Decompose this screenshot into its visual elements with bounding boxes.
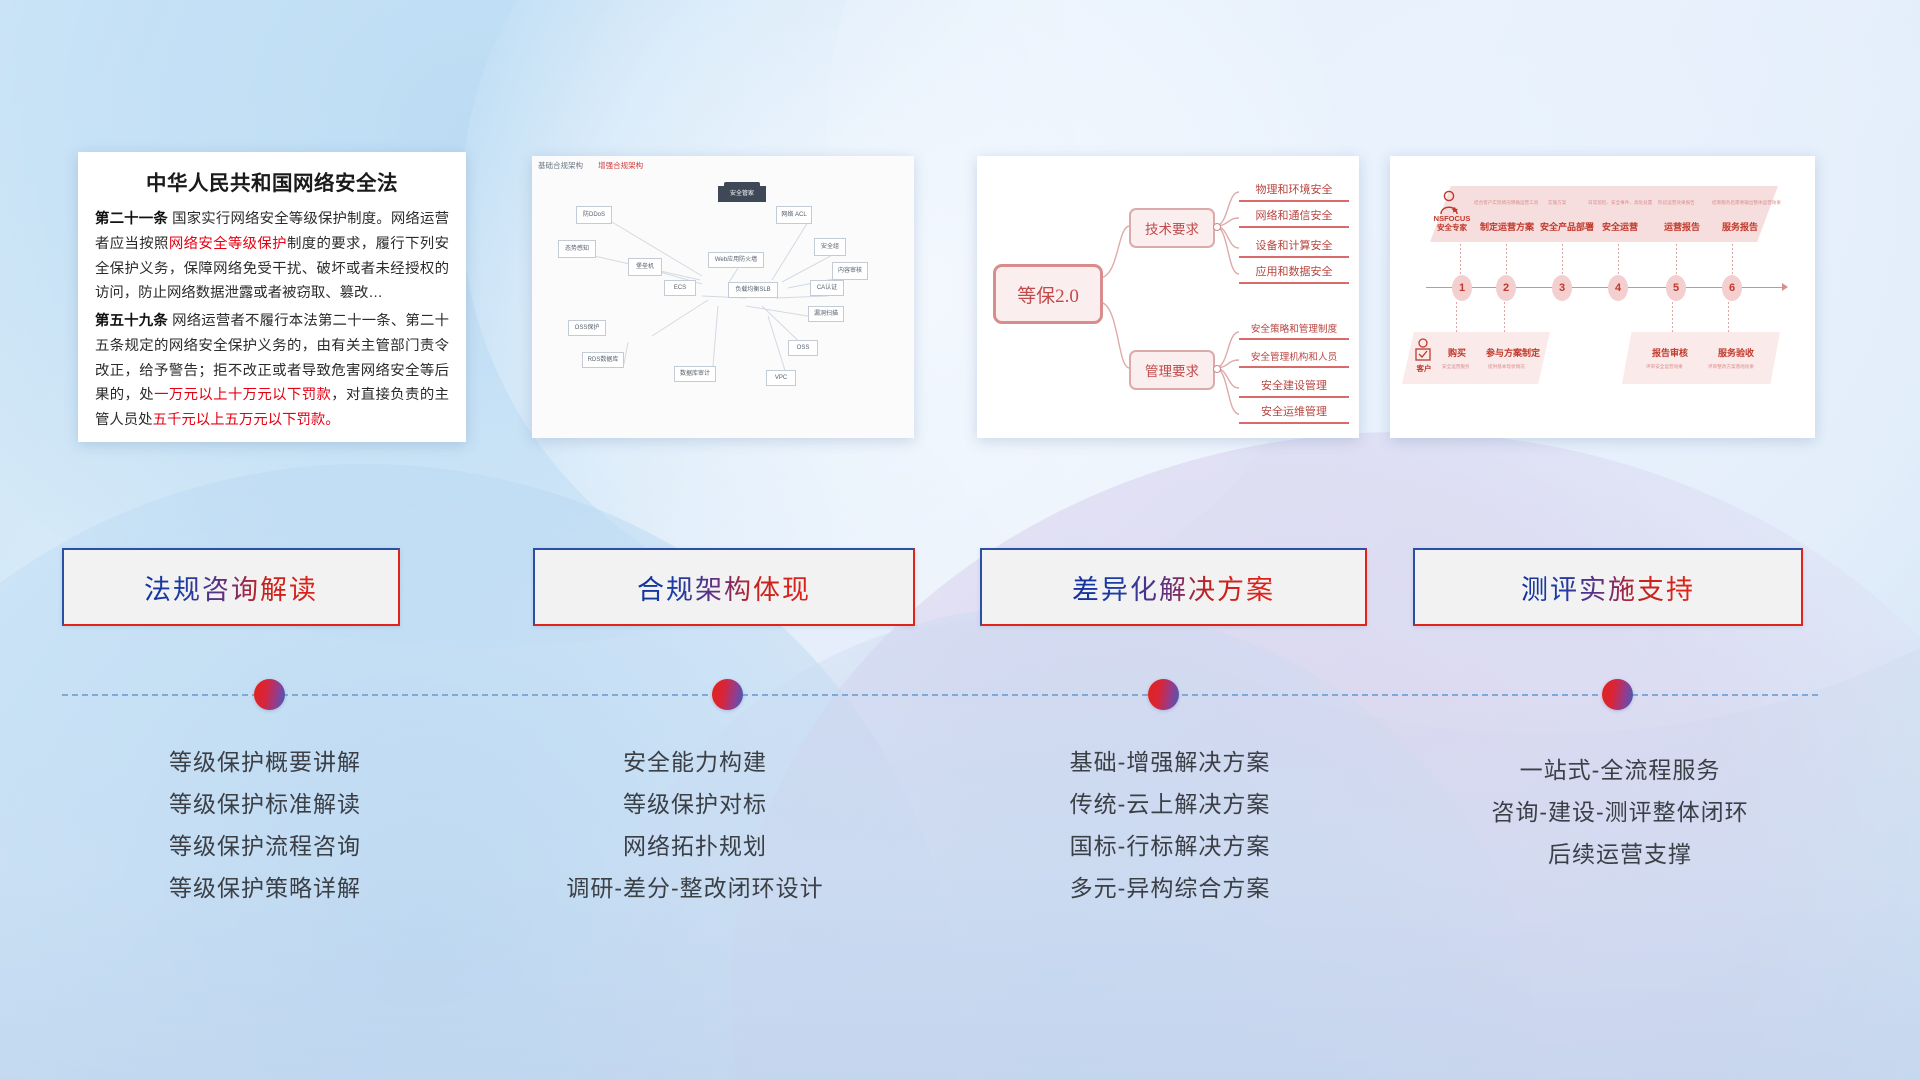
bottom-subtitle-3: 评审安全运营效果 [1646,364,1683,370]
timeline-marker-3[interactable] [1602,679,1633,710]
bottom-list-3-item-1: 咨询-建设-测评整体闭环 [1400,792,1840,834]
bottom-list-3: 一站式-全流程服务 咨询-建设-测评整体闭环 后续运营支撑 [1400,750,1840,876]
mindmap-collapse-dot-management[interactable] [1213,365,1221,373]
timeline-subtitle-5: 阶段运营效果报告 [1658,200,1695,206]
bottom-title-3: 报告审核 [1652,346,1688,359]
bottom-list-2-item-1: 传统-云上解决方案 [950,784,1390,826]
expert-logo-line1: NSFOCUS [1434,214,1471,223]
timeline-subtitle-3: 实施方案 [1548,200,1566,206]
bottom-list-0-item-2: 等级保护流程咨询 [60,826,470,868]
timeline-tick-4 [1618,244,1619,274]
mindmap-collapse-dot-technical[interactable] [1213,223,1221,231]
label-box-2-text: 差异化解决方案 [1072,568,1275,607]
bottom-list-0: 等级保护概要讲解 等级保护标准解读 等级保护流程咨询 等级保护策略详解 [60,742,470,909]
card-service-timeline: NSFOCUS 安全专家 结合客户实际情况明确运营工具 制定运营方案 实施方案 … [1390,156,1815,438]
architecture-node-14: 数据库审计 [674,366,716,382]
law-run-1-1-highlight: 网络安全等级保护 [169,236,287,252]
timeline-node-3[interactable]: 3 [1552,275,1572,301]
timeline-tick-b5 [1672,302,1673,332]
bottom-list-1-item-2: 网络拓扑规划 [480,826,910,868]
timeline-dashed-line [62,694,1818,696]
timeline-tick-2 [1506,244,1507,274]
customer-person-icon [1412,338,1434,364]
architecture-node-5: 安全组 [814,238,846,256]
timeline-marker-1[interactable] [712,679,743,710]
bottom-subtitle-2: 提供基本现状情况 [1488,364,1525,370]
bottom-list-2: 基础-增强解决方案 传统-云上解决方案 国标-行标解决方案 多元-异构综合方案 [950,742,1390,909]
architecture-node-7: ECS [664,280,696,296]
timeline-tick-b2 [1504,302,1505,332]
label-box-1-text: 合规架构体现 [637,568,811,607]
timeline-node-5[interactable]: 5 [1666,275,1686,301]
label-box-3[interactable]: 测评实施支持 [1413,548,1803,626]
architecture-node-12: RDS数据库 [582,352,624,368]
mindmap-leaf-tech-0: 物理和环境安全 [1239,181,1349,202]
timeline-subtitle-2: 结合客户实际情况明确运营工具 [1474,200,1538,206]
timeline-title-6: 服务报告 [1722,220,1758,233]
mindmap-root-node: 等保2.0 [993,264,1103,324]
timeline-marker-0[interactable] [254,679,285,710]
mindmap-canvas: 等保2.0 技术要求 物理和环境安全 网络和通信安全 设备和计算安全 应用和数据… [977,156,1359,438]
label-box-3-text: 测评实施支持 [1521,568,1695,607]
expert-logo: NSFOCUS 安全专家 [1432,214,1472,233]
timeline-subtitle-6: 结束服务后需要输出整体运营效果 [1712,200,1781,206]
bottom-list-1-item-0: 安全能力构建 [480,742,910,784]
bottom-title-4: 服务验收 [1718,346,1754,359]
bottom-list-1-item-3: 调研-差分-整改闭环设计 [480,868,910,910]
bottom-list-1: 安全能力构建 等级保护对标 网络拓扑规划 调研-差分-整改闭环设计 [480,742,910,909]
mindmap-leaf-mgmt-3: 安全运维管理 [1239,403,1349,424]
timeline-title-4: 安全运营 [1602,220,1638,233]
mindmap-leaf-tech-3: 应用和数据安全 [1239,263,1349,284]
architecture-node-10: 漏洞扫描 [808,306,844,322]
timeline-tick-6 [1732,244,1733,274]
architecture-node-2: 堡垒机 [628,258,662,276]
architecture-node-15: VPC [766,370,796,386]
architecture-node-9: CA认证 [810,280,844,296]
architecture-node-4: 网络 ACL [776,206,812,224]
bottom-list-0-item-1: 等级保护标准解读 [60,784,470,826]
timeline-node-6[interactable]: 6 [1722,275,1742,301]
mindmap-leaf-mgmt-1: 安全管理机构和人员 [1239,349,1349,368]
bottom-list-0-item-3: 等级保护策略详解 [60,868,470,910]
timeline-node-2[interactable]: 2 [1496,275,1516,301]
timeline-tick-5 [1676,244,1677,274]
law-run-2-3-highlight: 五千元以上五万元以下罚款。 [153,412,340,428]
expert-person-icon [1436,190,1464,216]
bottom-list-2-item-2: 国标-行标解决方案 [950,826,1390,868]
architecture-node-11: OSS保护 [568,320,606,336]
architecture-node-3: Web应用防火墙 [708,252,764,268]
bottom-list-1-item-1: 等级保护对标 [480,784,910,826]
architecture-node-13: OSS [788,340,818,356]
timeline-title-3: 安全产品部署 [1540,220,1594,233]
timeline-tick-3 [1562,244,1563,274]
architecture-node-0: 防DDoS [576,206,612,224]
timeline-arrow-icon [1782,283,1788,291]
timeline-band-customer-right [1622,332,1780,384]
timeline-band-expert [1430,186,1778,242]
timeline-node-1[interactable]: 1 [1452,275,1472,301]
bottom-list-2-item-3: 多元-异构综合方案 [950,868,1390,910]
bottom-subtitle-1: 安全运营服务 [1442,364,1470,370]
architecture-canvas: 基础合规架构 增强合规架构 互联网区 防DDoS 态势感知 堡垒机 W [532,156,914,438]
timeline-title-5: 运营报告 [1664,220,1700,233]
law-run-2-1-highlight: 一万元以上十万元以下罚款 [154,387,331,403]
law-article-number-2: 第五十九条 [95,313,168,329]
architecture-node-1: 态势感知 [558,240,596,258]
mindmap-leaf-mgmt-2: 安全建设管理 [1239,377,1349,398]
card-architecture-diagram: 基础合规架构 增强合规架构 互联网区 防DDoS 态势感知 堡垒机 W [532,156,914,438]
bottom-subtitle-4: 评审整改方案落地效果 [1708,364,1754,370]
timeline-tick-1 [1460,244,1461,274]
label-box-0[interactable]: 法规咨询解读 [62,548,400,626]
bottom-list-3-item-2: 后续运营支撑 [1400,834,1840,876]
law-title: 中华人民共和国网络安全法 [95,166,449,196]
mindmap-leaf-tech-1: 网络和通信安全 [1239,207,1349,228]
label-box-0-text: 法规咨询解读 [144,568,318,607]
law-article-number-1: 第二十一条 [95,211,168,227]
timeline-title-2: 制定运营方案 [1480,220,1534,233]
architecture-node-manager: 安全管家 [718,186,766,202]
service-timeline-canvas: NSFOCUS 安全专家 结合客户实际情况明确运营工具 制定运营方案 实施方案 … [1390,156,1815,438]
timeline-marker-2[interactable] [1148,679,1179,710]
customer-logo: 客户 [1412,364,1436,373]
expert-logo-line2: 安全专家 [1437,223,1467,232]
mindmap-branch-technical: 技术要求 [1129,208,1215,248]
architecture-node-6: 内容审核 [832,262,868,280]
architecture-node-8: 负载均衡SLB [728,282,778,298]
label-box-1[interactable]: 合规架构体现 [533,548,915,626]
timeline-node-4[interactable]: 4 [1608,275,1628,301]
law-paragraph-2: 第五十九条 网络运营者不履行本法第二十一条、第二十五条规定的网络安全保护义务的，… [95,309,449,433]
bottom-list-0-item-0: 等级保护概要讲解 [60,742,470,784]
mindmap-leaf-mgmt-0: 安全策略和管理制度 [1239,321,1349,340]
card-mindmap: 等保2.0 技术要求 物理和环境安全 网络和通信安全 设备和计算安全 应用和数据… [977,156,1359,438]
timeline-subtitle-4: 日常巡检、安全事件、高危处置 [1588,200,1652,206]
bottom-title-1: 购买 [1448,346,1466,359]
card-law-text: 中华人民共和国网络安全法 第二十一条 国家实行网络安全等级保护制度。网络运营者应… [78,152,466,442]
law-paragraph-1: 第二十一条 国家实行网络安全等级保护制度。网络运营者应当按照网络安全等级保护制度… [95,207,449,306]
timeline-tick-b6 [1728,302,1729,332]
bottom-list-2-item-0: 基础-增强解决方案 [950,742,1390,784]
bottom-list-3-item-0: 一站式-全流程服务 [1400,750,1840,792]
mindmap-branch-management: 管理要求 [1129,350,1215,390]
label-box-2[interactable]: 差异化解决方案 [980,548,1367,626]
mindmap-leaf-tech-2: 设备和计算安全 [1239,237,1349,258]
bottom-title-2: 参与方案制定 [1486,346,1540,359]
timeline-tick-b1 [1456,302,1457,332]
